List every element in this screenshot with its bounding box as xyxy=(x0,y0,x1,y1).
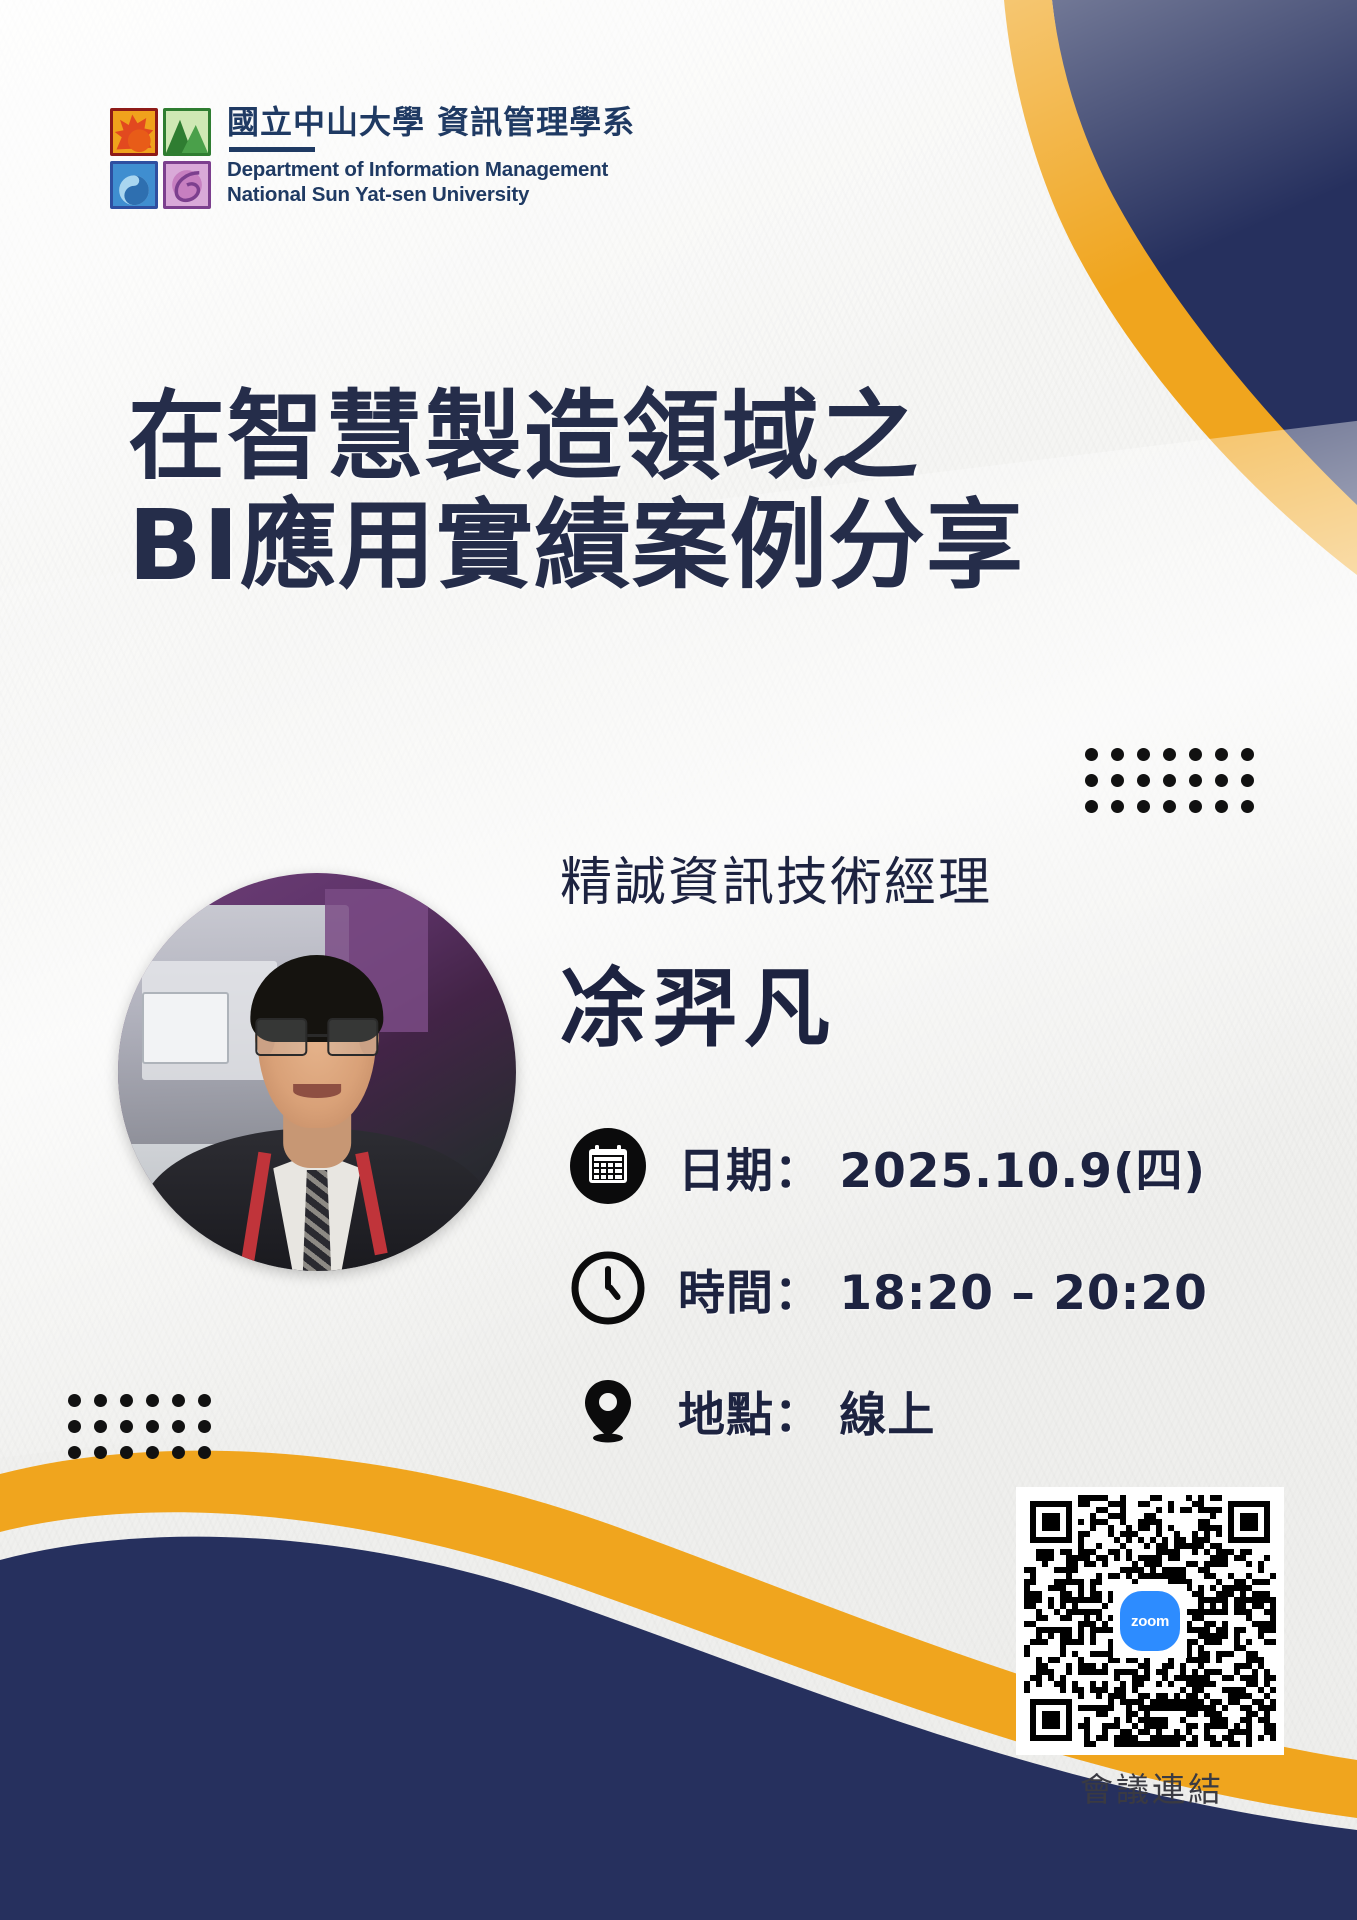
dot xyxy=(1085,800,1098,813)
poster-root: 國立中山大學 資訊管理學系 Department of Information … xyxy=(0,0,1357,1920)
dot xyxy=(146,1394,159,1407)
orchid-tile-icon xyxy=(163,161,211,209)
dot xyxy=(1137,800,1150,813)
dot xyxy=(146,1420,159,1433)
dot xyxy=(1111,774,1124,787)
event-date-text: 日期： 2025.10.9(四) xyxy=(678,1132,1206,1201)
dot xyxy=(1189,774,1202,787)
dot xyxy=(146,1446,159,1459)
dot xyxy=(1241,774,1254,787)
org-header: 國立中山大學 資訊管理學系 Department of Information … xyxy=(110,105,635,209)
dot xyxy=(1137,774,1150,787)
title-line-2: BI應用實績案例分享 xyxy=(128,492,1138,601)
dot xyxy=(120,1420,133,1433)
zoom-logo-badge: zoom xyxy=(1113,1584,1187,1658)
dot xyxy=(1163,748,1176,761)
dot xyxy=(68,1420,81,1433)
dot xyxy=(1085,774,1098,787)
org-name-cn: 國立中山大學 資訊管理學系 xyxy=(227,105,635,140)
dot xyxy=(94,1420,107,1433)
event-time-row: 時間： 18:20 – 20:20 xyxy=(570,1250,1208,1326)
speaker-avatar xyxy=(118,873,516,1271)
org-name-en-line2: National Sun Yat-sen University xyxy=(227,182,635,207)
qr-caption: 會議連結 xyxy=(1016,1763,1288,1811)
dot xyxy=(172,1420,185,1433)
dot-grid-left xyxy=(68,1394,211,1459)
org-name-divider xyxy=(229,147,315,152)
wave-tile-icon xyxy=(110,161,158,209)
dot xyxy=(198,1394,211,1407)
university-logo xyxy=(110,108,211,209)
dot xyxy=(1111,748,1124,761)
mountain-tile-icon xyxy=(163,108,211,156)
dot xyxy=(198,1446,211,1459)
qr-code[interactable]: zoom xyxy=(1016,1487,1284,1755)
event-details: 日期： 2025.10.9(四) 時間： 18:20 – 20:20 xyxy=(570,1128,1208,1448)
event-date-row: 日期： 2025.10.9(四) xyxy=(570,1128,1208,1204)
dot xyxy=(68,1446,81,1459)
zoom-logo-label: zoom xyxy=(1120,1591,1180,1651)
dot xyxy=(172,1394,185,1407)
calendar-icon xyxy=(570,1128,646,1204)
dot xyxy=(1215,774,1228,787)
dot xyxy=(120,1446,133,1459)
dot xyxy=(1163,774,1176,787)
event-location-row: 地點： 線上 xyxy=(570,1372,1208,1448)
dot xyxy=(1215,748,1228,761)
dot xyxy=(1189,800,1202,813)
dot xyxy=(198,1420,211,1433)
sun-tile-icon xyxy=(110,108,158,156)
dot xyxy=(1111,800,1124,813)
clock-icon xyxy=(570,1250,646,1326)
dot xyxy=(94,1446,107,1459)
title-line-1: 在智慧製造領域之 xyxy=(128,383,1138,492)
dot xyxy=(94,1394,107,1407)
dot xyxy=(1137,748,1150,761)
speaker-role: 精誠資訊技術經理 xyxy=(560,840,992,915)
org-name-en-line1: Department of Information Management xyxy=(227,157,635,182)
dot xyxy=(1241,800,1254,813)
meeting-qr-block[interactable]: zoom 會議連結 xyxy=(1016,1487,1288,1811)
org-name-block: 國立中山大學 資訊管理學系 Department of Information … xyxy=(227,105,635,207)
event-location-text: 地點： 線上 xyxy=(678,1376,935,1445)
location-pin-icon xyxy=(570,1372,646,1448)
speaker-name: 凃羿凡 xyxy=(560,938,836,1063)
event-time-text: 時間： 18:20 – 20:20 xyxy=(678,1254,1208,1323)
dot-grid-right xyxy=(1085,748,1254,813)
dot xyxy=(1189,748,1202,761)
dot xyxy=(1215,800,1228,813)
dot xyxy=(68,1394,81,1407)
dot xyxy=(120,1394,133,1407)
poster-title: 在智慧製造領域之 BI應用實績案例分享 xyxy=(128,383,1138,600)
dot xyxy=(1085,748,1098,761)
dot xyxy=(1163,800,1176,813)
dot xyxy=(1241,748,1254,761)
dot xyxy=(172,1446,185,1459)
